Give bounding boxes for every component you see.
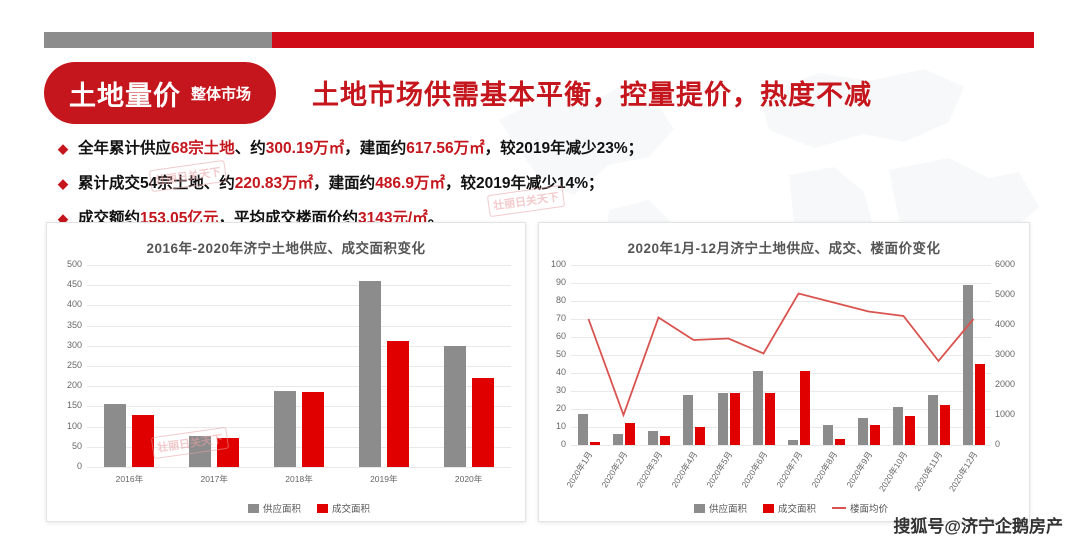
y-axis-tick-label: 250: [47, 360, 82, 370]
bullet-marker-icon: ◆: [58, 141, 68, 157]
legend-label: 楼面均价: [850, 501, 888, 515]
top-accent-grey: [44, 32, 272, 48]
x-axis-tick-label: 2016年: [103, 473, 155, 485]
legend-item[interactable]: 供应面积: [694, 501, 747, 515]
bar-deal: [472, 378, 494, 467]
chart-plot-monthly: 0102030405060708090100010002000300040005…: [539, 257, 1029, 507]
y-axis-tick-label: 450: [47, 279, 82, 289]
legend-item[interactable]: 成交面积: [763, 501, 816, 515]
chart-panel-monthly: 2020年1月-12月济宁土地供应、成交、楼面价变化 0102030405060…: [538, 222, 1030, 522]
bar-supply: [359, 281, 381, 467]
legend-swatch: [832, 507, 846, 509]
x-axis-tick-label: 2020年: [443, 473, 495, 485]
chart-title-monthly: 2020年1月-12月济宁土地供应、成交、楼面价变化: [539, 223, 1029, 257]
x-axis-tick-label: 2018年: [273, 473, 325, 485]
legend-item[interactable]: 成交面积: [317, 501, 370, 515]
legend-swatch: [763, 504, 774, 513]
chart-plot-yearly: 0501001502002503003504004505002016年2017年…: [47, 257, 525, 507]
gridline: [87, 467, 511, 468]
section-badge-title: 土地量价: [69, 74, 181, 113]
page-headline: 土地市场供需基本平衡，控量提价，热度不减: [312, 73, 872, 112]
bullet-item: ◆全年累计供应68宗土地、约300.19万㎡，建面约617.56万㎡，较2019…: [58, 136, 758, 158]
bar-deal: [217, 438, 239, 467]
bullet-text: 累计成交54宗土地、约220.83万㎡，建面约486.9万㎡，较2019年减少1…: [78, 171, 604, 193]
x-axis-tick-label: 2017年: [188, 473, 240, 485]
y-axis-tick-label: 200: [47, 380, 82, 390]
section-badge-subtitle: 整体市场: [191, 83, 251, 104]
legend-swatch: [248, 504, 259, 513]
gridline: [87, 265, 511, 266]
chart-panel-yearly: 2016年-2020年济宁土地供应、成交面积变化 050100150200250…: [46, 222, 526, 522]
top-accent-red: [272, 32, 1034, 48]
y-axis-tick-label: 150: [47, 400, 82, 410]
bar-supply: [189, 436, 211, 468]
legend-label: 供应面积: [263, 501, 301, 515]
bar-deal: [302, 392, 324, 467]
y-axis-tick-label: 50: [47, 441, 82, 451]
y-axis-tick-label: 300: [47, 340, 82, 350]
legend-item[interactable]: 楼面均价: [832, 501, 888, 515]
gridline: [87, 305, 511, 306]
bullet-text: 全年累计供应68宗土地、约300.19万㎡，建面约617.56万㎡，较2019年…: [78, 136, 643, 158]
top-accent-bar: [44, 32, 1034, 48]
gridline: [87, 326, 511, 327]
legend-label: 供应面积: [709, 501, 747, 515]
legend-label: 成交面积: [332, 501, 370, 515]
legend-item[interactable]: 供应面积: [248, 501, 301, 515]
section-badge: 土地量价 整体市场: [44, 62, 276, 124]
bullet-item: ◆累计成交54宗土地、约220.83万㎡，建面约486.9万㎡，较2019年减少…: [58, 171, 758, 193]
chart-title-yearly: 2016年-2020年济宁土地供应、成交面积变化: [47, 223, 525, 257]
bar-deal: [132, 415, 154, 467]
bar-deal: [387, 341, 409, 467]
bar-supply: [274, 391, 296, 467]
legend-swatch: [317, 504, 328, 513]
y-axis-tick-label: 500: [47, 259, 82, 269]
x-axis-tick-label: 2019年: [358, 473, 410, 485]
sohu-credit: 搜狐号@济宁企鹅房产: [893, 512, 1063, 537]
chart-legend: 供应面积成交面积: [97, 501, 521, 515]
y-axis-tick-label: 350: [47, 320, 82, 330]
y-axis-tick-label: 0: [47, 461, 82, 471]
bar-supply: [104, 404, 126, 467]
gridline: [87, 285, 511, 286]
legend-label: 成交面积: [778, 501, 816, 515]
y-axis-tick-label: 400: [47, 299, 82, 309]
bar-supply: [444, 346, 466, 467]
legend-swatch: [694, 504, 705, 513]
y-axis-tick-label: 100: [47, 421, 82, 431]
bullet-marker-icon: ◆: [58, 176, 68, 192]
